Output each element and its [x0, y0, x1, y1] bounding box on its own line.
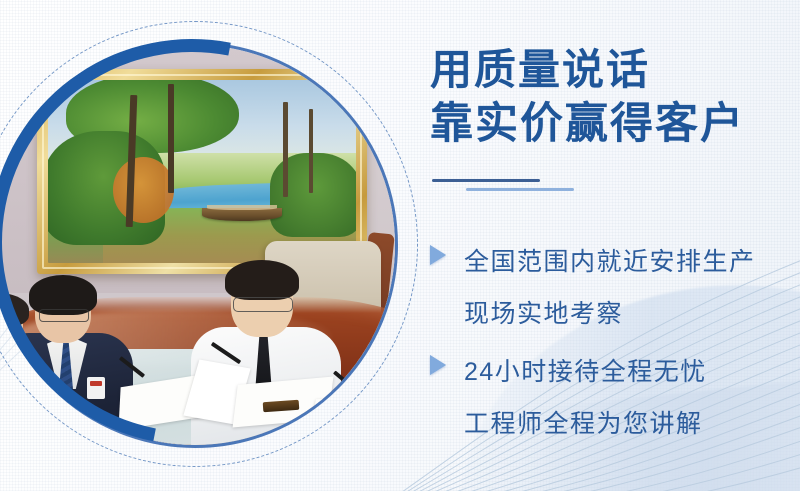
triangle-arrow-icon: [430, 245, 446, 265]
circular-photo: [0, 42, 398, 448]
feature-2-line-2: 工程师全程为您讲解: [464, 398, 707, 450]
content-panel: 用质量说话 靠实价赢得客户 全国范围内就近安排生产 现场实地考察 24小时接待全…: [428, 0, 800, 491]
name-badge: [87, 377, 105, 399]
photo-ring-border: [0, 42, 398, 448]
document: [310, 394, 386, 431]
painting-tree-trunk: [168, 84, 174, 194]
feature-2-line-1: 24小时接待全程无忧: [464, 346, 707, 398]
glasses-icon: [233, 297, 293, 312]
divider-line-light: [466, 188, 574, 191]
headline-line-1: 用质量说话: [430, 46, 650, 95]
feature-1-line-2: 现场实地考察: [464, 288, 756, 340]
landscape-painting: [48, 80, 356, 263]
meeting-photo: [0, 45, 395, 445]
glasses-icon: [39, 309, 89, 322]
triangle-arrow-icon: [430, 355, 446, 375]
headline-line-2: 靠实价赢得客户: [430, 100, 745, 150]
painting-autumn-bush: [113, 157, 175, 223]
feature-1-line-1: 全国范围内就近安排生产: [464, 236, 756, 288]
painting-boat: [202, 208, 282, 221]
promo-banner: 用质量说话 靠实价赢得客户 全国范围内就近安排生产 现场实地考察 24小时接待全…: [0, 0, 800, 491]
divider-line-dark: [432, 179, 540, 182]
painting-tree-trunk: [283, 102, 288, 197]
painting-tree-trunk: [309, 109, 313, 193]
